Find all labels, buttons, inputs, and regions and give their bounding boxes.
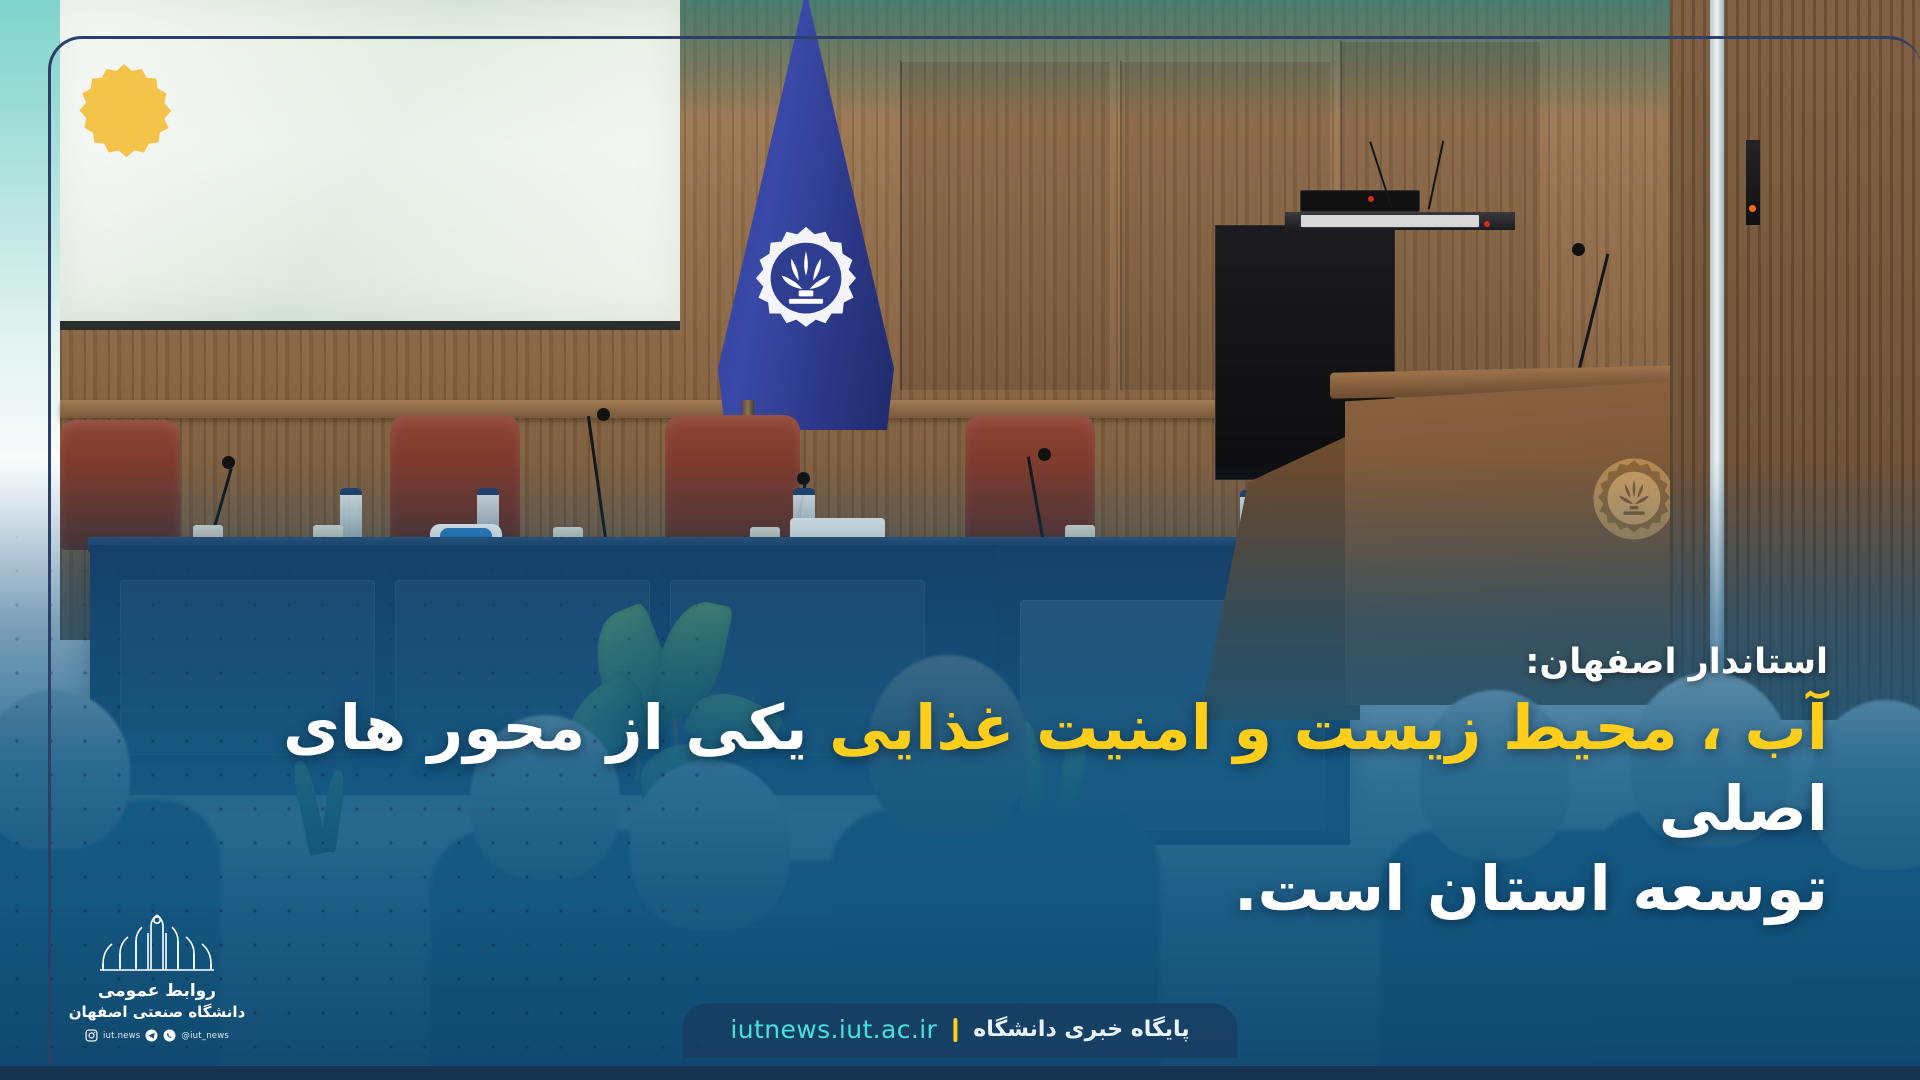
news-handle: @iut_news xyxy=(181,1031,229,1041)
headline-text: آب ، محیط زیست و امنیت غذایی یکی از محور… xyxy=(268,688,1828,930)
isfahan-skyline-icon xyxy=(62,911,252,975)
pr-logo-line1: روابط عمومی xyxy=(62,981,252,1001)
telegram-icon[interactable] xyxy=(145,1029,158,1042)
headline-block: استاندار اصفهان: آب ، محیط زیست و امنیت … xyxy=(268,642,1828,930)
mic-head xyxy=(1572,243,1585,256)
indicator-led xyxy=(1484,221,1490,227)
av-unit xyxy=(1300,214,1480,228)
news-site-url-bar[interactable]: پایگاه خبری دانشگاه iutnews.iut.ac.ir xyxy=(682,1003,1237,1058)
emblem-caption: دانشگاه صنعتی اصفهان xyxy=(93,76,154,84)
iut-gear-emblem-icon: دانشگاه صنعتی اصفهان xyxy=(72,62,176,166)
news-banner: دانشگاه صنعتی اصفهان استاندار اصفهان: آب… xyxy=(0,0,1920,1080)
exit-indicator xyxy=(1746,140,1760,225)
headline-line2: توسعه استان است. xyxy=(1234,852,1828,925)
url-bar-address[interactable]: iutnews.iut.ac.ir xyxy=(730,1015,937,1044)
indicator-led xyxy=(1368,196,1374,202)
mic-head xyxy=(597,408,610,421)
headline-accent-part: آب ، محیط زیست و امنیت غذایی xyxy=(829,691,1828,764)
pr-logo-line2: دانشگاه صنعتی اصفهان xyxy=(62,1003,252,1021)
pr-social-row[interactable]: iut.news @iut_news xyxy=(62,1029,252,1042)
public-relations-logo: روابط عمومی دانشگاه صنعتی اصفهان iut.new… xyxy=(62,911,252,1042)
url-bar-separator xyxy=(953,1018,957,1042)
instagram-icon[interactable] xyxy=(85,1029,98,1042)
bottom-band xyxy=(0,1066,1920,1080)
instagram-handle: iut.news xyxy=(103,1031,140,1041)
flag-gear-emblem xyxy=(745,222,867,344)
wall-panel xyxy=(900,60,1110,390)
whatsapp-icon[interactable] xyxy=(163,1029,176,1042)
kicker-text: استاندار اصفهان: xyxy=(268,642,1828,682)
url-bar-persian-label: پایگاه خبری دانشگاه xyxy=(973,1017,1189,1042)
exit-indicator-led xyxy=(1749,205,1756,212)
av-unit xyxy=(1300,190,1420,212)
